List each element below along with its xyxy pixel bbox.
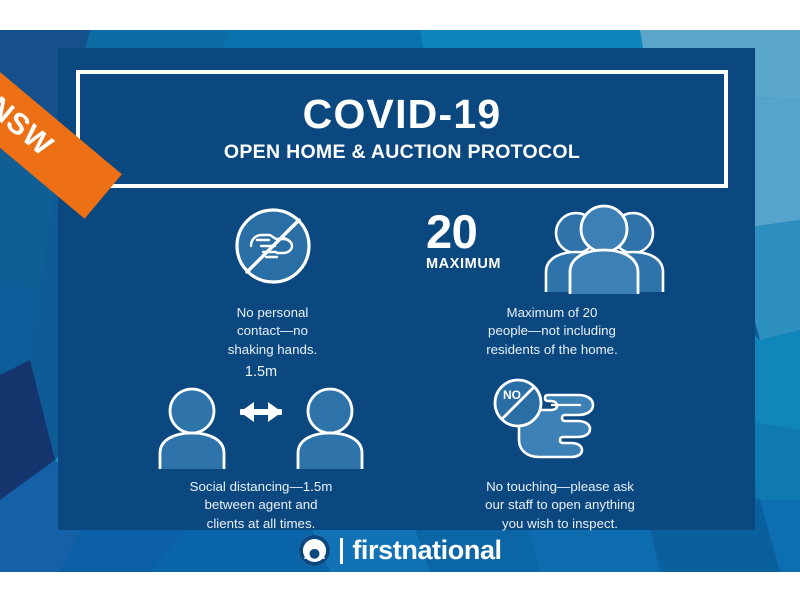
page-title: COVID-19	[303, 94, 502, 136]
caption-no-personal-contact: No personal contact—no shaking hands.	[180, 304, 365, 359]
two-people-distance-icon	[156, 385, 366, 469]
title-block: COVID-19 OPEN HOME & AUCTION PROTOCOL	[76, 70, 728, 188]
caption-no-touching: No touching—please ask our staff to open…	[430, 478, 690, 533]
first-national-logo-icon	[298, 534, 331, 567]
maximum-word: MAXIMUM	[426, 257, 501, 272]
logo-divider	[340, 538, 343, 564]
maximum-number-block: 20 MAXIMUM	[426, 208, 501, 272]
item-no-touching: NO No touching—please ask our staff to o…	[430, 374, 690, 533]
double-arrow-icon	[240, 402, 282, 422]
art-maximum: 20 MAXIMUM	[426, 200, 678, 292]
brand-logo: firstnational	[0, 534, 800, 567]
brand-name: firstnational	[352, 537, 501, 564]
caption-maximum-people: Maximum of 20 people—not including resid…	[426, 304, 678, 359]
no-handshake-icon	[227, 200, 319, 292]
art-social-distancing: 1.5m	[136, 374, 386, 466]
no-touch-pointing-hand-icon: NO	[485, 376, 635, 464]
item-no-personal-contact: No personal contact—no shaking hands.	[180, 200, 365, 359]
page-subtitle: OPEN HOME & AUCTION PROTOCOL	[224, 141, 580, 164]
art-no-touching: NO	[430, 374, 690, 466]
item-maximum-people: 20 MAXIMUM Maximum	[426, 200, 678, 359]
three-people-icon	[538, 202, 670, 294]
poster-canvas: COVID-19 OPEN HOME & AUCTION PROTOCOL NS…	[0, 0, 800, 600]
caption-social-distancing: Social distancing—1.5m between agent and…	[136, 478, 386, 533]
maximum-number: 20	[426, 208, 501, 255]
art-no-handshake	[180, 200, 365, 292]
protocol-items: No personal contact—no shaking hands. 20…	[58, 196, 755, 526]
no-badge-text: NO	[503, 388, 521, 402]
item-social-distancing: 1.5m Soci	[136, 374, 386, 533]
distance-label: 1.5m	[136, 364, 386, 380]
